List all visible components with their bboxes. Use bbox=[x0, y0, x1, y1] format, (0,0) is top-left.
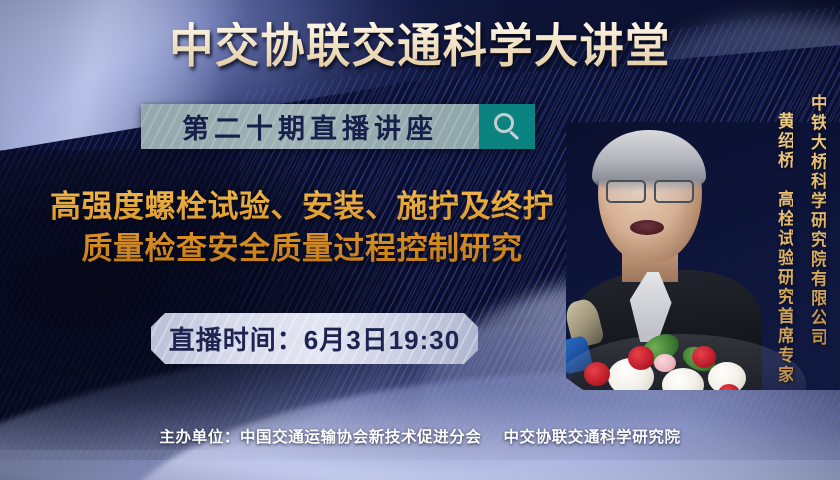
lecture-topic-line-2: 质量检查安全质量过程控制研究 bbox=[4, 228, 600, 270]
footer-organizers: 主办单位：中国交通运输协会新技术促进分会中交协联交通科学研究院 bbox=[0, 425, 840, 447]
live-stream-poster: 中交协联交通科学大讲堂 第二十期直播讲座 高强度螺栓试验、安装、施拧及终拧 质量… bbox=[0, 0, 840, 480]
search-button[interactable] bbox=[479, 104, 535, 149]
speaker-name-title: 黄绍桥 高栓试验研究首席专家 bbox=[775, 112, 793, 385]
episode-band: 第二十期直播讲座 bbox=[141, 104, 479, 149]
flower-pink bbox=[654, 354, 676, 372]
live-time-label: 直播时间：6月3日19:30 bbox=[169, 320, 460, 357]
search-icon bbox=[494, 113, 521, 140]
flower-red bbox=[628, 346, 654, 370]
portrait-glasses bbox=[606, 180, 694, 200]
live-time-badge: 直播时间：6月3日19:30 bbox=[151, 313, 478, 364]
lecture-topic: 高强度螺栓试验、安装、施拧及终拧 质量检查安全质量过程控制研究 bbox=[4, 186, 600, 270]
footer-organizer-2: 中交协联交通科学研究院 bbox=[503, 429, 680, 446]
page-title: 中交协联交通科学大讲堂 bbox=[25, 22, 815, 69]
portrait-mouth bbox=[630, 220, 664, 235]
flower-red bbox=[584, 362, 610, 386]
search-icon-handle bbox=[508, 130, 518, 140]
lecture-topic-line-1: 高强度螺栓试验、安装、施拧及终拧 bbox=[50, 189, 554, 224]
speaker-organization: 中铁大桥科学研究院有限公司 bbox=[808, 94, 826, 348]
episode-label: 第二十期直播讲座 bbox=[182, 107, 438, 146]
speaker-portrait bbox=[566, 122, 840, 390]
episode-bar: 第二十期直播讲座 bbox=[141, 104, 535, 149]
footer-prefix: 主办单位： bbox=[159, 429, 240, 446]
footer-organizer-1: 中国交通运输协会新技术促进分会 bbox=[240, 429, 482, 446]
flower-red bbox=[692, 346, 716, 368]
